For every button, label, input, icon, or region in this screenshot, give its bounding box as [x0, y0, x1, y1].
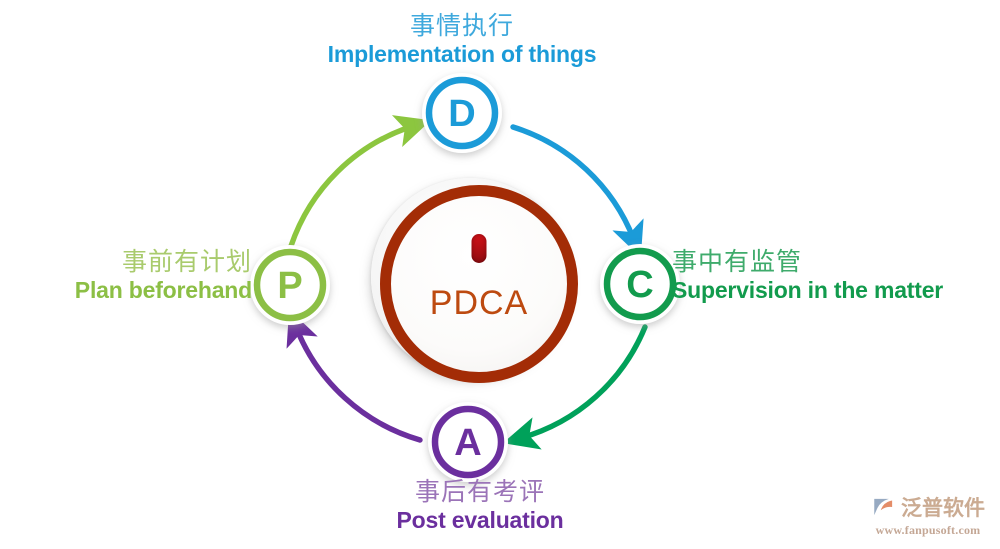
node-act[interactable]: A	[428, 402, 508, 482]
node-plan[interactable]: P	[250, 245, 330, 325]
label-do-cn: 事情执行	[312, 12, 612, 41]
node-check[interactable]: C	[600, 244, 680, 324]
label-check-cn: 事中有监管	[672, 248, 1000, 277]
watermark: 泛普软件 www.fanpusoft.com	[862, 492, 994, 538]
node-do-letter: D	[448, 93, 475, 135]
knob-red-ring: PDCA	[380, 185, 578, 383]
label-do: 事情执行 Implementation of things	[312, 12, 612, 67]
node-do[interactable]: D	[422, 73, 502, 153]
node-check-letter: C	[626, 264, 653, 306]
label-do-en: Implementation of things	[312, 41, 612, 67]
node-act-letter: A	[454, 422, 481, 464]
label-act-en: Post evaluation	[330, 507, 630, 533]
label-act-cn: 事后有考评	[330, 478, 630, 507]
fanpu-logo-icon	[871, 494, 897, 520]
diagram-canvas: D C A P PDCA 事情执行 Implementatio	[0, 0, 1000, 549]
label-plan-en: Plan beforehand	[20, 277, 252, 303]
pdca-center-knob: PDCA	[371, 178, 569, 376]
label-check: 事中有监管 Supervision in the matter	[672, 248, 1000, 303]
node-plan-letter: P	[277, 265, 302, 307]
label-act: 事后有考评 Post evaluation	[330, 478, 630, 533]
label-check-en: Supervision in the matter	[672, 277, 1000, 303]
power-marker-icon	[472, 234, 487, 263]
watermark-url: www.fanpusoft.com	[862, 523, 994, 538]
pdca-center-label: PDCA	[391, 284, 567, 323]
label-plan-cn: 事前有计划	[20, 248, 252, 277]
label-plan: 事前有计划 Plan beforehand	[20, 248, 252, 303]
watermark-brand: 泛普软件	[901, 492, 985, 522]
watermark-row: 泛普软件	[862, 492, 994, 522]
